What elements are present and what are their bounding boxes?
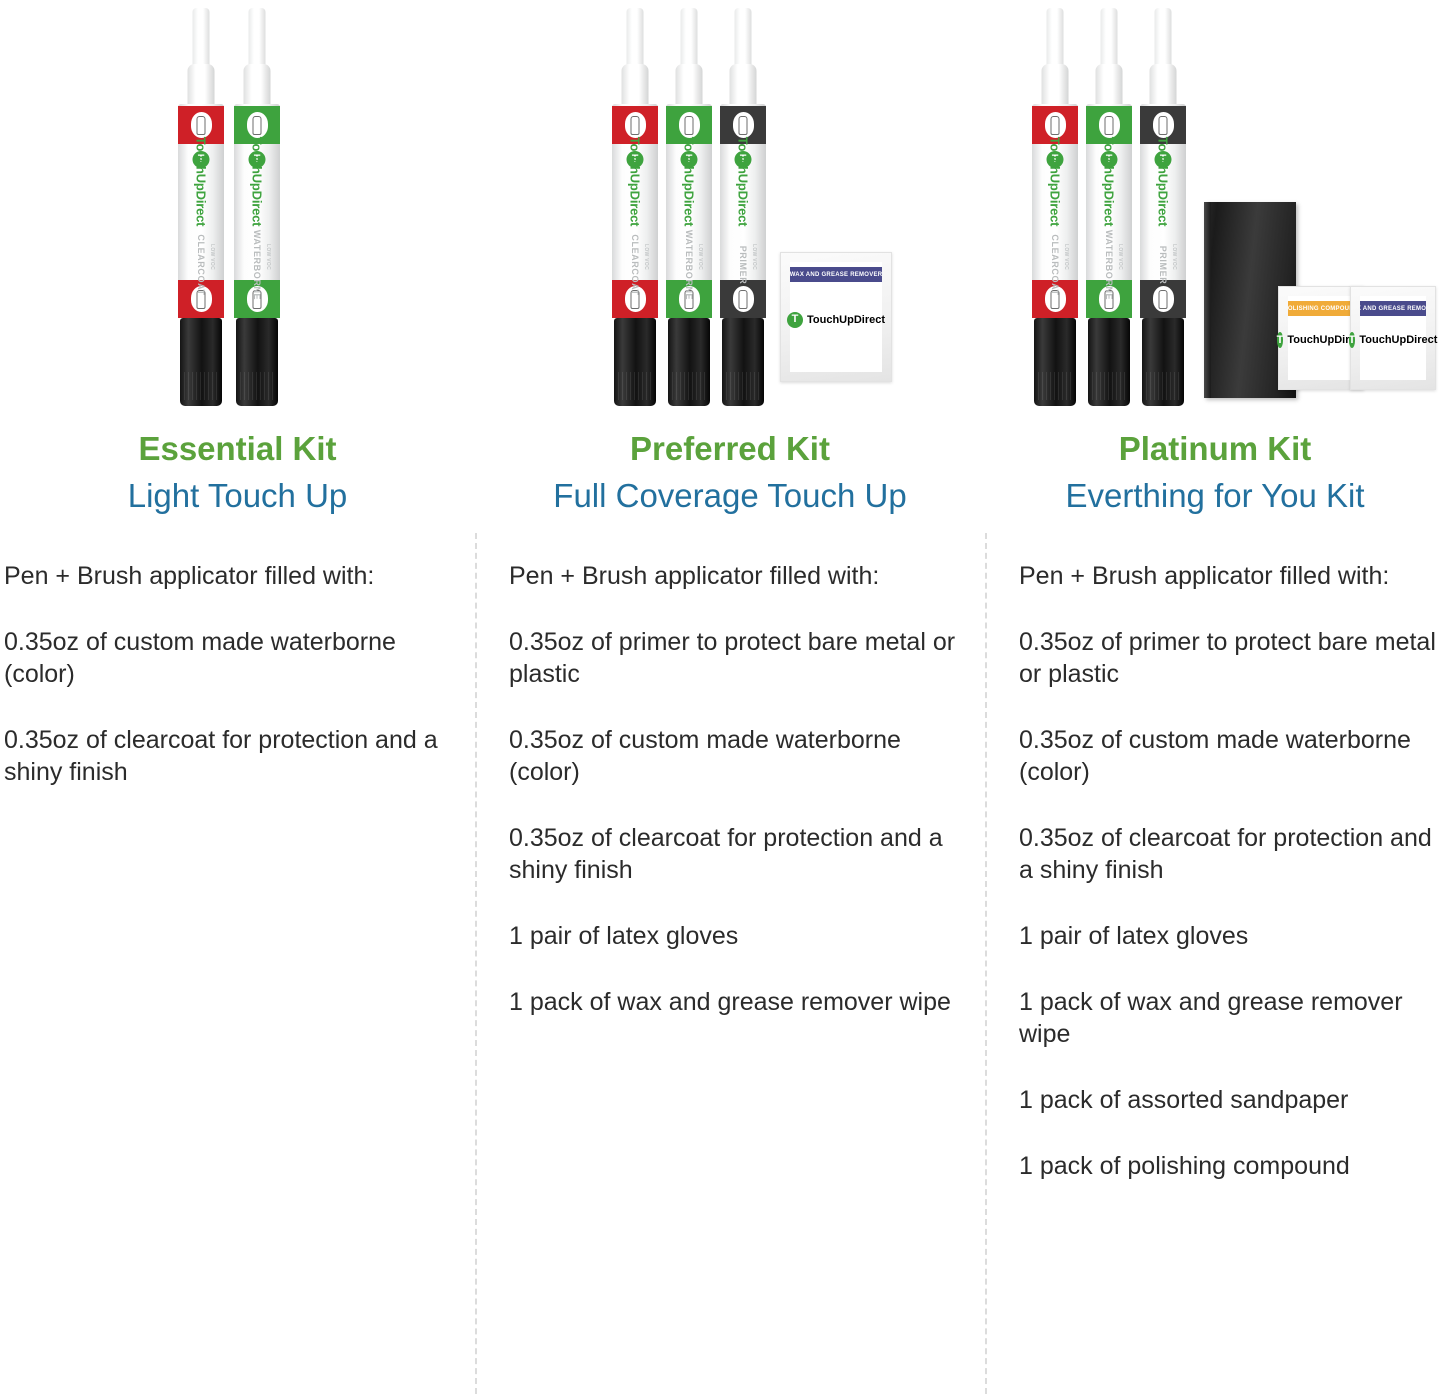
bottle-icon bbox=[733, 112, 754, 138]
bottle-icon bbox=[733, 286, 754, 312]
kit-feature-item: 0.35oz of custom made waterborne (color) bbox=[509, 724, 967, 788]
kit-feature-item: 1 pair of latex gloves bbox=[1019, 920, 1441, 952]
kit-column-preferred: TTouchUpDirectLOW VOCCLEARCOATTTouchUpDi… bbox=[475, 0, 985, 1394]
kit-feature-item: 0.35oz of primer to protect bare metal o… bbox=[509, 626, 967, 690]
touch-up-pen-clearcoat: TTouchUpDirectLOW VOCCLEARCOAT bbox=[612, 8, 658, 408]
pen-group-platinum: TTouchUpDirectLOW VOCCLEARCOATTTouchUpDi… bbox=[1032, 8, 1436, 408]
kit-intro-text: Pen + Brush applicator filled with: bbox=[509, 560, 967, 592]
brand-logo-icon: T bbox=[787, 312, 803, 328]
pen-cap bbox=[1142, 318, 1184, 406]
pen-brand-label: TouchUpDirect bbox=[736, 137, 751, 227]
bottle-icon bbox=[1153, 286, 1174, 312]
pen-group-essential: TTouchUpDirectLOW VOCCLEARCOATTTouchUpDi… bbox=[178, 8, 280, 408]
pen-tip bbox=[1155, 8, 1172, 70]
kit-intro-text: Pen + Brush applicator filled with: bbox=[1019, 560, 1441, 592]
touch-up-pen-primer: TTouchUpDirectLOW VOCPRIMER bbox=[720, 8, 766, 408]
kit-feature-item: 1 pack of wax and grease remover wipe bbox=[1019, 986, 1441, 1050]
packet-brand: TTouchUpDirect bbox=[781, 312, 891, 328]
pen-brand-label: TouchUpDirect bbox=[1102, 137, 1117, 227]
product-image-platinum: TTouchUpDirectLOW VOCCLEARCOATTTouchUpDi… bbox=[985, 0, 1445, 430]
kit-title: Essential Kit bbox=[0, 430, 475, 469]
bottle-icon bbox=[625, 112, 646, 138]
pen-cap bbox=[1088, 318, 1130, 406]
pen-tip bbox=[681, 8, 698, 70]
kit-feature-item: 0.35oz of clearcoat for protection and a… bbox=[4, 724, 467, 788]
bottle-icon bbox=[679, 112, 700, 138]
bottle-icon bbox=[1045, 112, 1066, 138]
kit-header-platinum: Platinum Kit Everthing for You Kit bbox=[985, 430, 1445, 516]
kit-subtitle: Everthing for You Kit bbox=[985, 475, 1445, 516]
kit-intro-text: Pen + Brush applicator filled with: bbox=[4, 560, 467, 592]
pen-voc-label: LOW VOC bbox=[751, 244, 757, 270]
pen-product-label: WATERBORNE bbox=[1104, 230, 1114, 300]
kit-subtitle: Full Coverage Touch Up bbox=[475, 475, 985, 516]
pen-band-bottom bbox=[720, 280, 766, 318]
kit-features-preferred: Pen + Brush applicator filled with:0.35o… bbox=[475, 560, 985, 1018]
pen-product-label: PRIMER bbox=[1158, 246, 1168, 285]
kit-feature-item: 0.35oz of clearcoat for protection and a… bbox=[1019, 822, 1441, 886]
kit-columns: TTouchUpDirectLOW VOCCLEARCOATTTouchUpDi… bbox=[0, 0, 1445, 1394]
packet-label-band: WAX AND GREASE REMOVER bbox=[1360, 301, 1426, 316]
kit-feature-item: 1 pack of assorted sandpaper bbox=[1019, 1084, 1441, 1116]
pen-group-preferred: TTouchUpDirectLOW VOCCLEARCOATTTouchUpDi… bbox=[612, 8, 892, 408]
kit-feature-item: 1 pack of wax and grease remover wipe bbox=[509, 986, 967, 1018]
pen-voc-label: LOW VOC bbox=[209, 244, 215, 270]
pen-product-label: PRIMER bbox=[738, 246, 748, 285]
pen-brand-label: TouchUpDirect bbox=[682, 137, 697, 227]
product-image-preferred: TTouchUpDirectLOW VOCCLEARCOATTTouchUpDi… bbox=[475, 0, 985, 430]
kit-header-essential: Essential Kit Light Touch Up bbox=[0, 430, 475, 516]
kit-feature-item: 0.35oz of clearcoat for protection and a… bbox=[509, 822, 967, 886]
kit-column-essential: TTouchUpDirectLOW VOCCLEARCOATTTouchUpDi… bbox=[0, 0, 475, 1394]
pen-voc-label: LOW VOC bbox=[1171, 244, 1177, 270]
pen-cap bbox=[614, 318, 656, 406]
pen-brand-label: TouchUpDirect bbox=[194, 137, 209, 227]
kit-title: Preferred Kit bbox=[475, 430, 985, 469]
pen-product-label: CLEARCOAT bbox=[1050, 234, 1060, 295]
touch-up-pen-clearcoat: TTouchUpDirectLOW VOCCLEARCOAT bbox=[1032, 8, 1078, 408]
pen-product-label: WATERBORNE bbox=[252, 230, 262, 300]
pen-voc-label: LOW VOC bbox=[1063, 244, 1069, 270]
pen-brand-label: TouchUpDirect bbox=[628, 137, 643, 227]
kit-features-platinum: Pen + Brush applicator filled with:0.35o… bbox=[985, 560, 1445, 1182]
pen-band-bottom bbox=[1140, 280, 1186, 318]
pen-cap bbox=[180, 318, 222, 406]
touch-up-pen-waterborne: TTouchUpDirectLOW VOCWATERBORNE bbox=[1086, 8, 1132, 408]
kit-features-essential: Pen + Brush applicator filled with:0.35o… bbox=[0, 560, 475, 788]
bottle-icon bbox=[247, 112, 268, 138]
kit-feature-item: 1 pair of latex gloves bbox=[509, 920, 967, 952]
pen-voc-label: LOW VOC bbox=[265, 244, 271, 270]
kit-feature-item: 0.35oz of primer to protect bare metal o… bbox=[1019, 626, 1441, 690]
touch-up-pen-waterborne: TTouchUpDirectLOW VOCWATERBORNE bbox=[234, 8, 280, 408]
bottle-icon bbox=[1153, 112, 1174, 138]
pen-voc-label: LOW VOC bbox=[697, 244, 703, 270]
brand-logo-icon: T bbox=[1349, 332, 1356, 348]
pen-cap bbox=[236, 318, 278, 406]
touch-up-pen-clearcoat: TTouchUpDirectLOW VOCCLEARCOAT bbox=[178, 8, 224, 408]
pen-brand-label: TouchUpDirect bbox=[1156, 137, 1171, 227]
kit-feature-item: 1 pack of polishing compound bbox=[1019, 1150, 1441, 1182]
pen-tip bbox=[627, 8, 644, 70]
kit-feature-item: 0.35oz of custom made waterborne (color) bbox=[4, 626, 467, 690]
kit-comparison-page: TTouchUpDirectLOW VOCCLEARCOATTTouchUpDi… bbox=[0, 0, 1445, 1394]
kit-feature-item: 0.35oz of custom made waterborne (color) bbox=[1019, 724, 1441, 788]
brand-logo-icon: T bbox=[1277, 332, 1284, 348]
kit-title: Platinum Kit bbox=[985, 430, 1445, 469]
pen-tip bbox=[249, 8, 266, 70]
packet-brand-label: TouchUpDirect bbox=[1359, 334, 1437, 346]
bottle-icon bbox=[191, 112, 212, 138]
pen-product-label: WATERBORNE bbox=[684, 230, 694, 300]
touch-up-pen-primer: TTouchUpDirectLOW VOCPRIMER bbox=[1140, 8, 1186, 408]
pen-tip bbox=[1047, 8, 1064, 70]
pen-product-label: CLEARCOAT bbox=[196, 234, 206, 295]
bottle-icon bbox=[1099, 112, 1120, 138]
pen-brand-label: TouchUpDirect bbox=[250, 137, 265, 227]
wipe-packet: WAX AND GREASE REMOVERTTouchUpDirect bbox=[780, 252, 892, 382]
product-image-essential: TTouchUpDirectLOW VOCCLEARCOATTTouchUpDi… bbox=[0, 0, 475, 430]
pen-cap bbox=[668, 318, 710, 406]
wipe-packet: WAX AND GREASE REMOVERTTouchUpDirect bbox=[1350, 286, 1436, 390]
pen-cap bbox=[1034, 318, 1076, 406]
pen-voc-label: LOW VOC bbox=[1117, 244, 1123, 270]
pen-voc-label: LOW VOC bbox=[643, 244, 649, 270]
touch-up-pen-waterborne: TTouchUpDirectLOW VOCWATERBORNE bbox=[666, 8, 712, 408]
pen-brand-label: TouchUpDirect bbox=[1048, 137, 1063, 227]
kit-subtitle: Light Touch Up bbox=[0, 475, 475, 516]
pen-cap bbox=[722, 318, 764, 406]
packet-brand: TTouchUpDirect bbox=[1351, 332, 1435, 348]
pen-product-label: CLEARCOAT bbox=[630, 234, 640, 295]
packet-label-band: WAX AND GREASE REMOVER bbox=[790, 267, 882, 282]
packet-label-band: POLISHING COMPOUND bbox=[1288, 301, 1354, 316]
pen-tip bbox=[735, 8, 752, 70]
kit-header-preferred: Preferred Kit Full Coverage Touch Up bbox=[475, 430, 985, 516]
kit-column-platinum: TTouchUpDirectLOW VOCCLEARCOATTTouchUpDi… bbox=[985, 0, 1445, 1394]
pen-tip bbox=[1101, 8, 1118, 70]
packet-brand-label: TouchUpDirect bbox=[807, 314, 885, 326]
pen-tip bbox=[193, 8, 210, 70]
